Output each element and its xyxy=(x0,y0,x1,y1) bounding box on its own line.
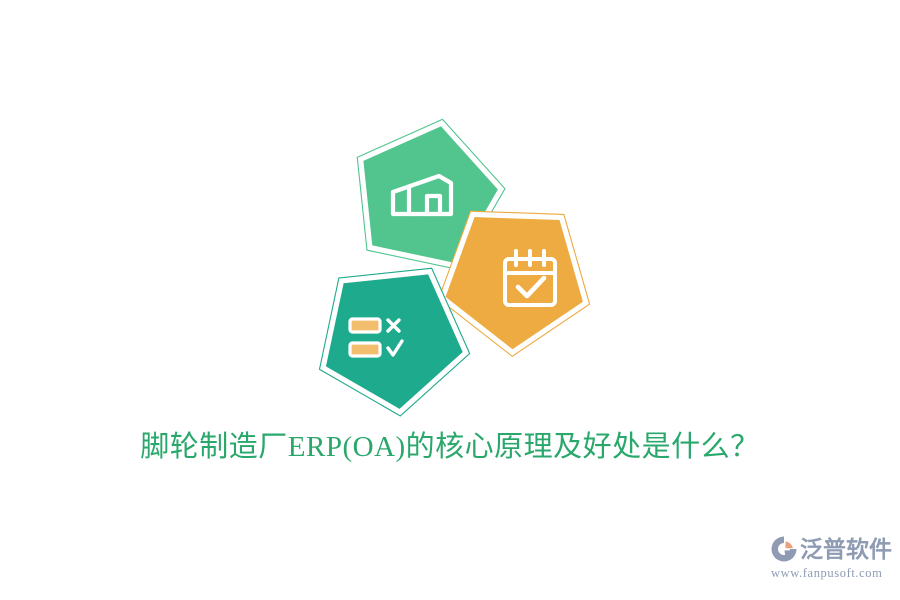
checklist-bar-2 xyxy=(350,343,380,356)
page-title: 脚轮制造厂ERP(OA)的核心原理及好处是什么？ xyxy=(0,427,900,467)
pentagon-cluster-graphic xyxy=(285,105,615,415)
brand-logo: 泛普软件 www.fanpusoft.com xyxy=(770,534,890,586)
brand-url: www.fanpusoft.com xyxy=(771,565,890,581)
brand-wordmark: 泛普软件 xyxy=(800,535,892,563)
brand-logo-row: 泛普软件 xyxy=(770,534,890,564)
fanpu-logo-mark-icon xyxy=(770,535,798,563)
page-canvas: 脚轮制造厂ERP(OA)的核心原理及好处是什么？ 泛普软件 www.fanpus… xyxy=(0,0,900,600)
checklist-bar-1 xyxy=(350,319,380,332)
